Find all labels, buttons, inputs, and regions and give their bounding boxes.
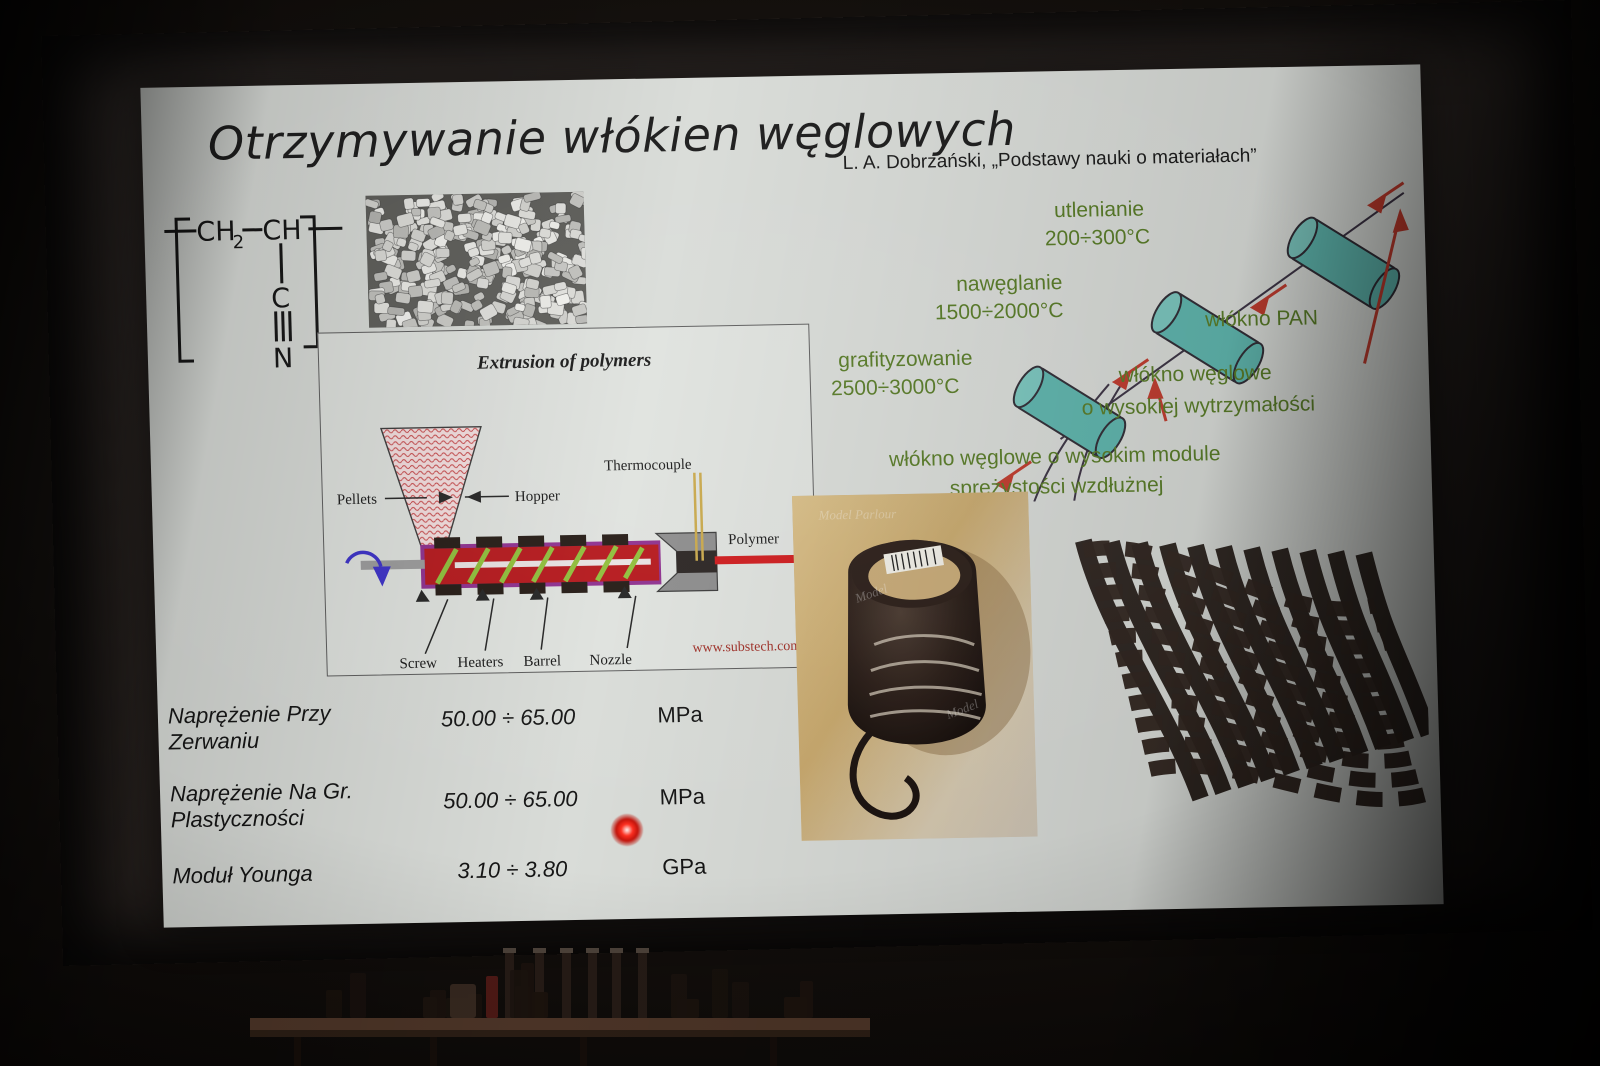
label-pellets: Pellets: [337, 492, 378, 509]
substech-watermark: www.substech.com: [692, 639, 801, 657]
projection-room-scene: Otrzymywanie włókien węglowych: [0, 0, 1600, 1066]
laser-pointer-dot: [611, 814, 643, 846]
projected-slide-wrapper: Otrzymywanie włókien węglowych: [140, 64, 1443, 927]
svg-text:Model Parlour: Model Parlour: [817, 506, 897, 522]
property-value: 50.00 ÷ 65.00: [410, 785, 611, 815]
property-name: Moduł Younga: [172, 859, 423, 890]
property-unit: GPa: [624, 853, 745, 881]
table-row: Naprężenie Na Gr. Plastyczności 50.00 ÷ …: [152, 769, 854, 864]
formula-carbon: C: [271, 283, 291, 314]
fiber-label-high-strength: o wysokiej wytrzymałości: [1081, 392, 1315, 419]
formula-ch2: CH: [196, 216, 236, 248]
property-value: 3.10 ÷ 3.80: [412, 855, 613, 885]
presentation-slide: Otrzymywanie włókien węglowych: [140, 64, 1443, 927]
fiber-label-pan: włókno PAN: [1204, 306, 1318, 331]
polymer-pellets-photo: [365, 192, 587, 328]
mechanical-properties-table: Naprężenie Przy Zerwaniu 50.00 ÷ 65.00 M…: [150, 691, 856, 910]
property-unit: MPa: [620, 701, 741, 729]
step-label-grafityzowanie: grafityzowanie: [838, 347, 973, 372]
label-heaters: Heaters: [457, 654, 503, 671]
step-temp-nawęglanie: 1500÷2000°C: [935, 299, 1064, 324]
formula-nitrogen: N: [273, 343, 294, 374]
fiber-label-carbon: włókno węglowe: [1117, 361, 1272, 387]
label-screw: Screw: [399, 656, 437, 673]
label-polymer: Polymer: [728, 531, 779, 548]
step-temp-grafityzowanie: 2500÷3000°C: [831, 375, 960, 400]
formula-ch: CH: [262, 215, 302, 247]
property-unit: MPa: [622, 783, 743, 811]
property-name: Naprężenie Przy Zerwaniu: [168, 699, 419, 755]
carbon-fiber-weave-photo: [1042, 494, 1431, 841]
step-temp-utlenianie: 200÷300°C: [1045, 225, 1151, 250]
label-barrel: Barrel: [523, 653, 561, 670]
property-name: Naprężenie Na Gr. Plastyczności: [170, 777, 421, 833]
lab-bench-foreground: [250, 946, 870, 1066]
fiber-label-high-modulus-1: włókno węglowe o wysokim module: [888, 442, 1221, 471]
label-nozzle: Nozzle: [589, 652, 632, 669]
label-hopper: Hopper: [515, 488, 560, 505]
pan-conversion-diagram: utlenianie 200÷300°C nawęglanie 1500÷200…: [803, 164, 1432, 505]
step-label-utlenianie: utlenianie: [1054, 198, 1145, 223]
extrusion-diagram-panel: Extrusion of polymers: [317, 324, 819, 677]
label-thermocouple: Thermocouple: [604, 457, 692, 475]
formula-ch2-subscript: 2: [232, 232, 244, 253]
property-value: 50.00 ÷ 65.00: [408, 703, 609, 733]
table-row: Naprężenie Przy Zerwaniu 50.00 ÷ 65.00 M…: [150, 691, 852, 782]
step-label-nawęglanie: nawęglanie: [956, 271, 1063, 296]
